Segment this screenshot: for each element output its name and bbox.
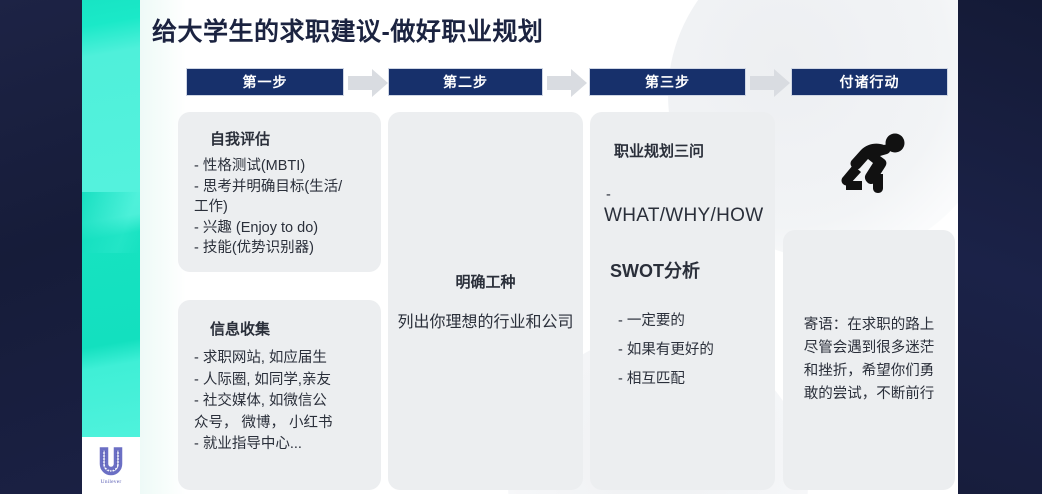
step-header-row: 第一步 第二步 第三步 <box>140 68 958 98</box>
card-closing-message-text: 寄语：在求职的路上尽管会遇到很多迷茫和挫折，希望你们勇敢的尝试，不断前行 <box>797 314 941 406</box>
slide-canvas: 给大学生的求职建议-做好职业规划 第一步 第二步 第三步 <box>140 0 958 494</box>
card-self-assessment-line: - 思考并明确目标(生活/ <box>194 178 367 198</box>
card-career-plan-bullet: - 如果有更好的 <box>618 338 775 359</box>
brand-logo: Unilever <box>82 437 140 494</box>
card-info-gathering-title: 信息收集 <box>210 318 369 339</box>
unilever-u-logo <box>98 447 124 477</box>
card-role-clarity-subtitle: 列出你理想的行业和公司 <box>397 308 573 332</box>
card-career-plan-bullet: - 相互匹配 <box>618 367 775 388</box>
step-chip-2-label: 第二步 <box>443 72 488 92</box>
card-self-assessment-line: - 兴趣 (Enjoy to do) <box>194 219 367 239</box>
presentation-slide: Unilever 给大学生的求职建议-做好职业规划 第一步 第二步 <box>0 0 1042 494</box>
step-chip-2[interactable]: 第二步 <box>388 68 543 96</box>
step-chip-1[interactable]: 第一步 <box>186 68 344 96</box>
step-arrow-1-icon <box>348 69 388 97</box>
card-career-plan-title: 职业规划三问 <box>614 140 775 161</box>
step-arrow-3-icon <box>750 69 790 97</box>
left-frame-band <box>0 0 82 494</box>
card-self-assessment-line: - 性格测试(MBTI) <box>194 157 367 177</box>
card-role-clarity[interactable]: 明确工种 列出你理想的行业和公司 <box>388 112 583 490</box>
brand-logo-word: Unilever <box>101 479 122 485</box>
step-chip-1-label: 第一步 <box>243 72 288 92</box>
card-self-assessment-line: 工作) <box>194 198 367 218</box>
card-info-gathering-line: - 人际圈, 如同学,亲友 <box>194 371 369 391</box>
card-self-assessment-title: 自我评估 <box>210 128 367 149</box>
card-self-assessment-line: - 技能(优势识别器) <box>194 239 367 259</box>
card-self-assessment[interactable]: 自我评估 - 性格测试(MBTI) - 思考并明确目标(生活/ 工作) - 兴趣… <box>178 112 381 272</box>
card-info-gathering-line: - 求职网站, 如应届生 <box>194 349 369 369</box>
card-closing-message[interactable]: 寄语：在求职的路上尽管会遇到很多迷茫和挫折，希望你们勇敢的尝试，不断前行 <box>783 230 955 490</box>
step-chip-3[interactable]: 第三步 <box>589 68 746 96</box>
right-frame-band <box>958 0 1042 494</box>
page-title: 给大学生的求职建议-做好职业规划 <box>152 12 543 48</box>
card-info-gathering-line: - 社交媒体, 如微信公 <box>194 392 369 412</box>
card-career-plan-bullet: - 一定要的 <box>618 309 775 330</box>
card-career-plan[interactable]: 职业规划三问 - WHAT/WHY/HOW SWOT分析 - 一定要的 - 如果… <box>590 112 775 490</box>
card-career-plan-dash: - <box>606 187 775 203</box>
card-info-gathering-line: - 就业指导中心... <box>194 435 369 455</box>
step-chip-4-label: 付诸行动 <box>840 72 900 92</box>
card-career-plan-questions: WHAT/WHY/HOW <box>604 205 775 227</box>
teal-accent-band <box>82 0 140 437</box>
card-info-gathering[interactable]: 信息收集 - 求职网站, 如应届生 - 人际圈, 如同学,亲友 - 社交媒体, … <box>178 300 381 490</box>
card-role-clarity-title: 明确工种 <box>455 271 515 292</box>
card-career-plan-swot-heading: SWOT分析 <box>610 257 775 283</box>
card-info-gathering-line: 众号， 微博， 小红书 <box>194 414 369 434</box>
runner-crouch-icon <box>840 132 912 194</box>
step-chip-4[interactable]: 付诸行动 <box>791 68 948 96</box>
step-chip-3-label: 第三步 <box>645 72 690 92</box>
step-arrow-2-icon <box>547 69 587 97</box>
